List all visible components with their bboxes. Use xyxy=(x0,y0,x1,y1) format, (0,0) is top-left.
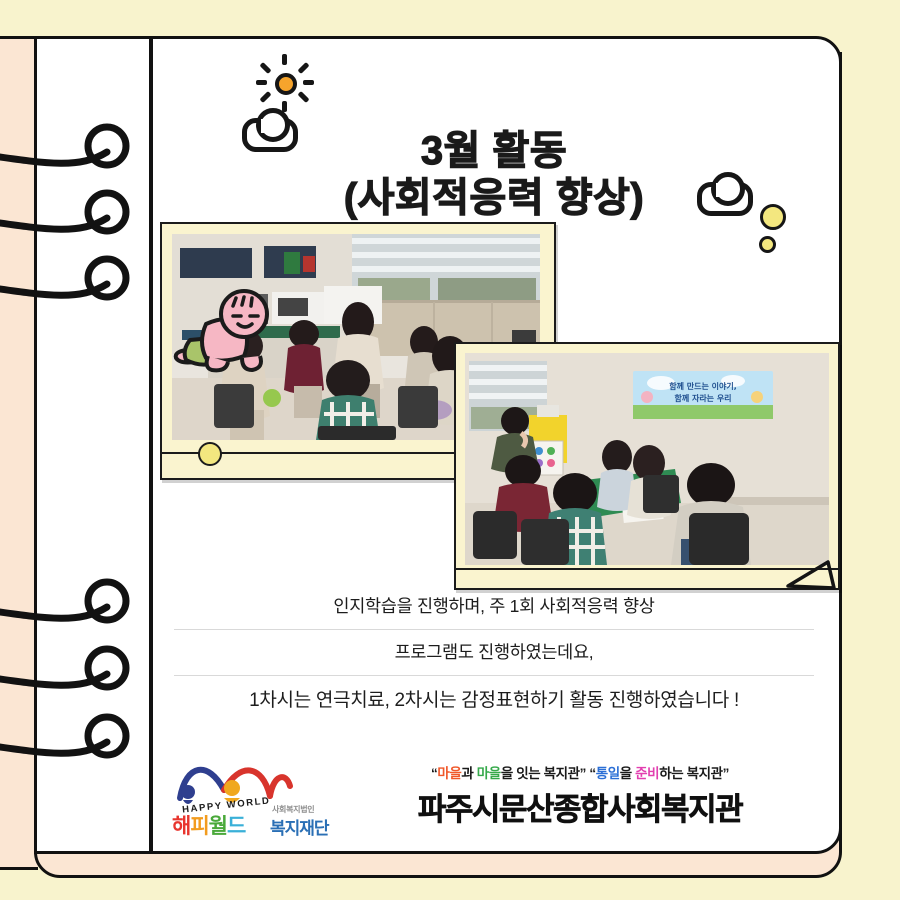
brand-char-3: 월 xyxy=(209,810,227,840)
footer: HAPPY WORLD 해피월드 사회복지법인 복지재단 “마을과 마을을 잇는… xyxy=(152,758,836,846)
slogan-part-7: 통일 xyxy=(596,766,620,781)
body-line-1: 인지학습을 진행하며, 주 1회 사회적응력 향상 xyxy=(152,584,836,629)
poster-content: 3월 활동 (사회적응력 향상) xyxy=(152,36,836,848)
logo-brand-korean: 해피월드 xyxy=(172,810,245,840)
brand-char-1: 해 xyxy=(172,810,190,840)
body-line-3: 1차시는 연극치료, 2차시는 감정표현하기 활동 진행하였습니다 ! xyxy=(152,676,836,723)
organization-name: 파주시문산종합사회복지관 xyxy=(330,784,830,829)
photo-2-caption-rule xyxy=(456,568,838,570)
slogan-part-10: 하는 복지관” xyxy=(659,766,729,781)
cloud-icon xyxy=(697,182,753,216)
slogan: “마을과 마을을 잇는 복지관” “통일을 준비하는 복지관” xyxy=(330,762,830,782)
svg-text:함께 자라는 우리: 함께 자라는 우리 xyxy=(674,393,731,403)
slogan-part-3: 과 xyxy=(461,766,476,781)
title-block: 3월 활동 (사회적응력 향상) xyxy=(152,36,836,161)
happy-world-logo: HAPPY WORLD 해피월드 사회복지법인 복지재단 xyxy=(166,760,336,844)
logo-corp-large: 복지재단 xyxy=(270,814,329,839)
photo-2-image: 함께 만드는 이야기, 함께 자라는 우리 xyxy=(465,353,829,565)
photo-1-pin-dot xyxy=(198,442,222,466)
brand-char-2: 피 xyxy=(190,810,208,840)
body-text-block: 인지학습을 진행하며, 주 1회 사회적응력 향상 프로그램도 진행하였는데요,… xyxy=(152,584,836,723)
cloud-icon xyxy=(242,118,298,152)
slogan-part-8: 을 xyxy=(620,766,635,781)
crawling-baby-icon xyxy=(166,284,274,384)
slogan-part-5: 을 잇는 복지관” xyxy=(501,766,590,781)
svg-text:함께 만드는 이야기,: 함께 만드는 이야기, xyxy=(669,381,737,391)
yellow-dot-icon xyxy=(759,236,776,253)
photo-card-2[interactable]: 함께 만드는 이야기, 함께 자라는 우리 xyxy=(454,342,840,590)
photo-2-corner-curl xyxy=(784,540,844,592)
slogan-part-4: 마을 xyxy=(477,766,501,781)
sun-icon xyxy=(258,56,312,110)
page-edge-left xyxy=(0,36,38,870)
body-line-2: 프로그램도 진행하였는데요, xyxy=(152,630,836,675)
slogan-part-9: 준비 xyxy=(635,766,659,781)
slogan-part-2: 마을 xyxy=(437,766,461,781)
yellow-dot-icon xyxy=(760,204,786,230)
brand-char-4: 드 xyxy=(227,810,245,840)
notebook-card: 3월 활동 (사회적응력 향상) xyxy=(0,28,872,873)
